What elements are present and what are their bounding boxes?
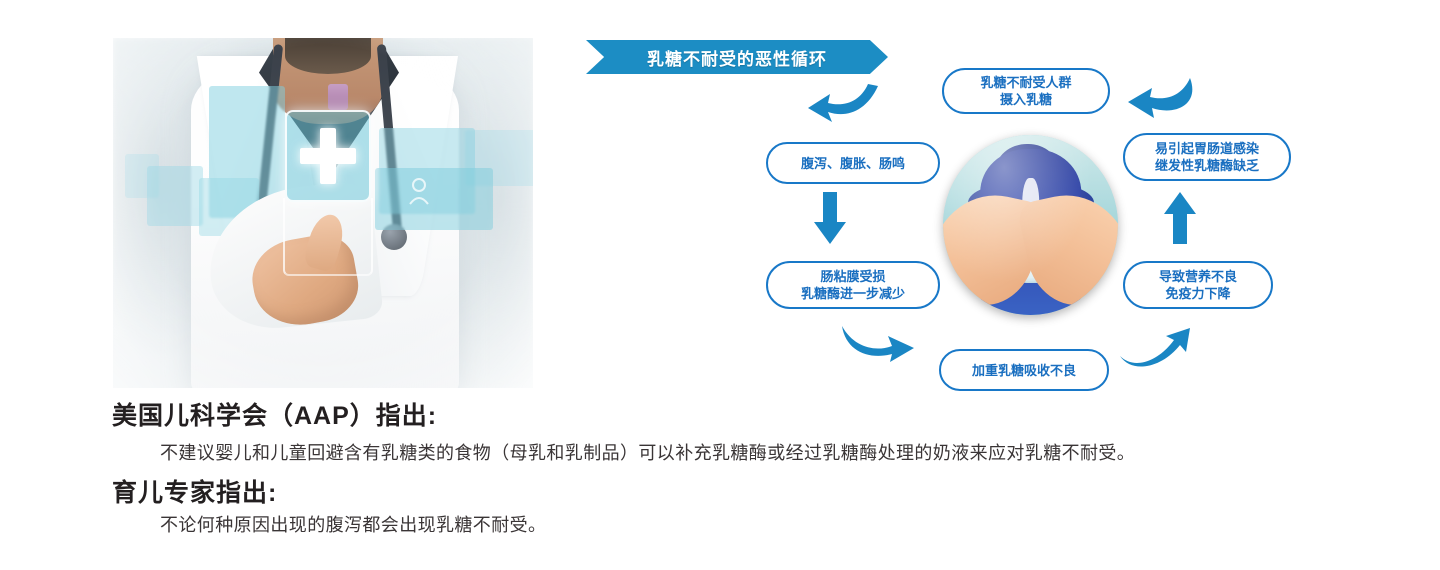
- doctor-tie: [328, 84, 348, 110]
- center-illustration: [943, 135, 1118, 315]
- medical-symbol-icon: [405, 176, 433, 206]
- hologram-frame: [283, 198, 373, 276]
- cycle-node-top[interactable]: 乳糖不耐受人群 摄入乳糖: [942, 68, 1110, 114]
- ui-tile: [375, 168, 493, 230]
- curved-arrow-up-right-icon: [1118, 326, 1194, 370]
- section-paragraph-aap: 不建议婴儿和儿童回避含有乳糖类的食物（母乳和乳制品）可以补充乳糖酶或经过乳糖酶处…: [160, 439, 1135, 465]
- heading-text: 美国儿科学会（AAP）指出:: [112, 396, 437, 432]
- illustration-gloss: [943, 135, 1118, 315]
- arrow-up-icon: [1162, 192, 1198, 244]
- section-heading-aap: 美国儿科学会（AAP）指出:: [112, 396, 437, 432]
- cycle-node-left-top[interactable]: 腹泻、腹胀、肠鸣: [766, 142, 940, 184]
- section-paragraph-expert: 不论何种原因出现的腹泻都会出现乳糖不耐受。: [160, 511, 546, 537]
- cycle-node-right-bottom[interactable]: 导致营养不良 免疫力下降: [1123, 261, 1273, 309]
- arrow-down-icon: [812, 192, 848, 244]
- cycle-node-left-bottom[interactable]: 肠粘膜受损 乳糖酶进一步减少: [766, 261, 940, 309]
- section-heading-expert: 育儿专家指出:: [112, 473, 277, 509]
- medical-cross-icon: [285, 110, 371, 202]
- poster-root: 乳糖不耐受的恶性循环 乳糖不耐受人群 摄入乳糖 易引起胃肠道感染 继发性乳糖酶缺…: [0, 0, 1440, 570]
- curved-arrow-down-left-icon: [806, 82, 880, 126]
- curved-arrow-down-right-icon: [840, 322, 916, 364]
- cycle-node-bottom[interactable]: 加重乳糖吸收不良: [939, 349, 1109, 391]
- doctor-beard: [285, 38, 371, 74]
- vicious-cycle-diagram: 乳糖不耐受人群 摄入乳糖 易引起胃肠道感染 继发性乳糖酶缺乏 导致营养不良 免疫…: [740, 58, 1320, 398]
- doctor-photo: [113, 38, 533, 388]
- ui-tile: [147, 166, 203, 226]
- cycle-node-right-top[interactable]: 易引起胃肠道感染 继发性乳糖酶缺乏: [1123, 133, 1291, 181]
- curved-arrow-up-left-icon: [1126, 76, 1200, 120]
- heading-text: 育儿专家指出:: [112, 473, 277, 509]
